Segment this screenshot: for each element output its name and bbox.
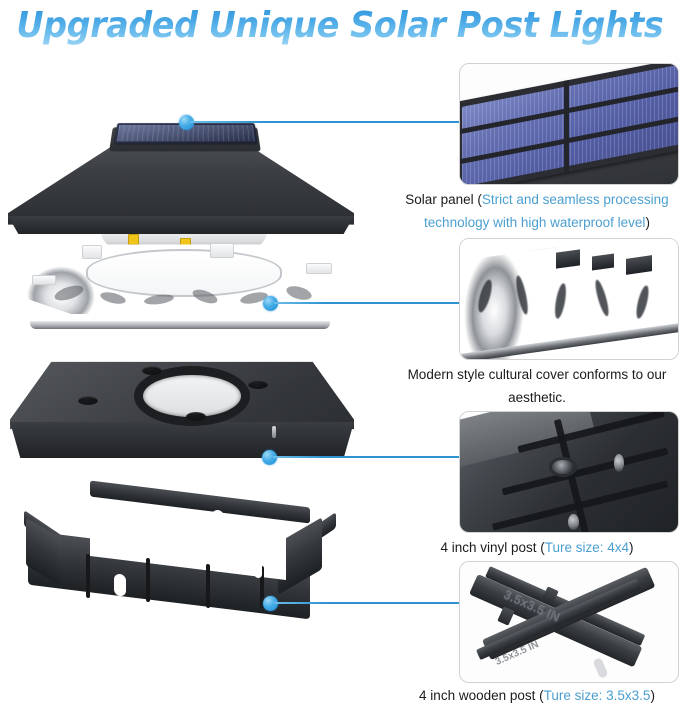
caption-crystal-cover: Modern style cultural cover conforms to … [395, 363, 679, 409]
product-infographic: Upgraded Unique Solar Post Lights [0, 0, 679, 704]
callout-line-solar-panel [190, 121, 476, 123]
frame-slot [254, 558, 262, 579]
frame-slot [114, 573, 126, 596]
center-post-hole [552, 460, 574, 474]
adapter-slot [592, 657, 608, 679]
product-part-solar-cap [8, 110, 354, 240]
caption-highlight-text: Ture size: 3.5x3.5 [544, 688, 651, 703]
frame-rib [206, 564, 210, 608]
page-title-text: Upgraded Unique Solar Post Lights [16, 5, 663, 46]
caption-highlight-text: Ture size: 4x4 [545, 540, 629, 555]
product-part-base-plate [10, 360, 354, 460]
screw-hole [186, 412, 206, 421]
base-plate-edge [10, 422, 354, 458]
crystal-tab [210, 243, 234, 258]
page-title: Upgraded Unique Solar Post Lights [0, 2, 679, 48]
cap-skirt [8, 216, 354, 234]
caption-lead-text: Solar panel [405, 192, 477, 207]
caption-lead-text: 4 inch vinyl post [440, 540, 540, 555]
callout-line-wooden-post [274, 602, 476, 604]
cell-divider [564, 80, 569, 173]
crystal-tab [82, 245, 102, 259]
caption-lead-text: Modern style cultural cover conforms to … [408, 367, 667, 405]
screw-hole [248, 380, 268, 389]
thumbnail-crystal-cover[interactable] [459, 238, 679, 360]
caption-lead-text: 4 inch wooden post [419, 688, 539, 703]
screw-hole [142, 366, 162, 375]
thumbnail-wooden-post[interactable]: 3.5x3.5 IN 3.5x3.5 IN [459, 561, 679, 683]
thumbnail-vinyl-post[interactable] [459, 411, 679, 533]
caption-paren-close: ) [650, 688, 655, 703]
frame-rib [86, 554, 90, 598]
caption-paren-close: ) [629, 540, 634, 555]
callout-line-crystal-cover [274, 302, 476, 304]
caption-vinyl-post: 4 inch vinyl post (Ture size: 4x4) [395, 536, 679, 559]
crystal-base-rim [30, 321, 330, 329]
frame-rib [146, 558, 150, 602]
caption-paren-close: ) [645, 215, 650, 230]
crystal-tab [306, 263, 332, 274]
cover-dark-notch [556, 249, 580, 268]
product-part-crystal-cover [14, 243, 350, 331]
product-part-adapter-frame [16, 492, 346, 644]
screw-hole [568, 514, 579, 530]
adapter-tab [497, 606, 514, 625]
crystal-inner-rim [86, 249, 282, 297]
crystal-tab [32, 275, 56, 285]
callout-line-vinyl-post [273, 456, 476, 458]
screw-hole [78, 396, 98, 405]
screw-hole [614, 454, 624, 472]
thumbnail-solar-panel[interactable] [459, 63, 679, 185]
caption-solar-panel: Solar panel (Strict and seamless process… [395, 188, 679, 234]
power-switch-slot [272, 426, 276, 438]
